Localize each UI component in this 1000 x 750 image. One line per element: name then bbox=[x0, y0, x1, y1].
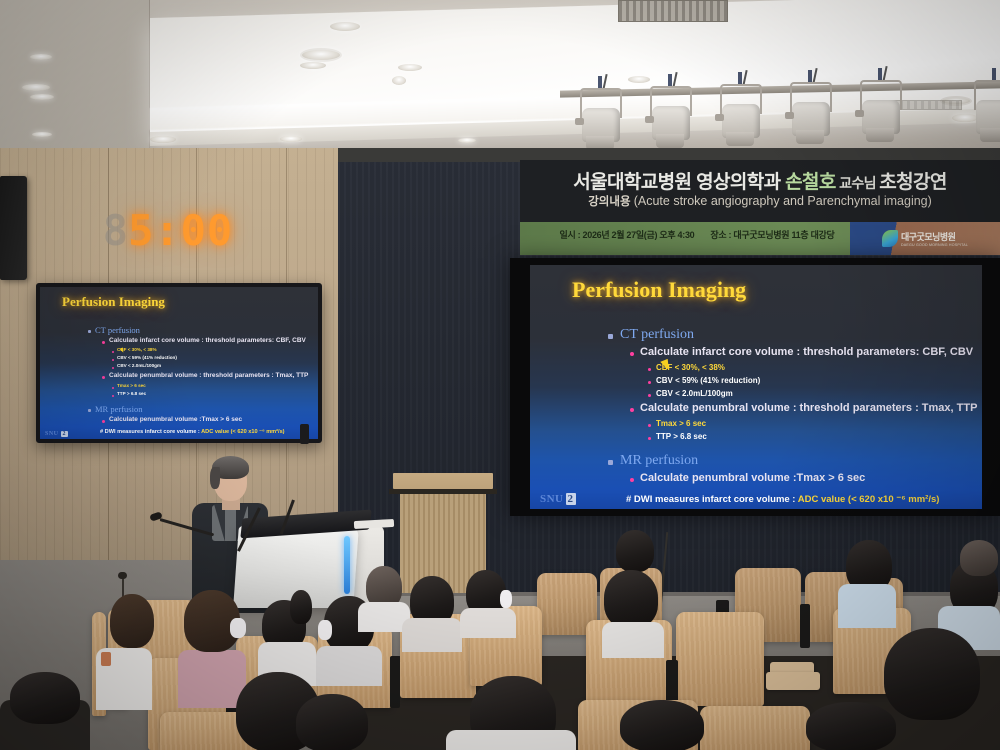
audience-head bbox=[960, 540, 998, 576]
banner-honorific: 교수님 bbox=[836, 175, 879, 191]
downlight-icon bbox=[280, 136, 302, 142]
lecture-hall-photo: 서울대학교병원 영상의학과 손철호 교수님 초청강연 강의내용 (Acute s… bbox=[0, 0, 1000, 750]
audience-torso bbox=[178, 650, 246, 708]
downlight-icon bbox=[32, 132, 52, 137]
slide-title: Perfusion Imaging bbox=[572, 277, 746, 303]
projection-screen: Perfusion Imaging CT perfusion Calculate… bbox=[530, 265, 982, 509]
downlight-icon bbox=[398, 64, 422, 71]
slide-footnote-highlight: ADC value (< 620 x10 ⁻⁶ mm²/s) bbox=[201, 429, 284, 435]
slide-content-small: Perfusion Imaging CT perfusion Calculate… bbox=[40, 287, 318, 439]
audience-head bbox=[10, 672, 80, 724]
banner-title: 서울대학교병원 영상의학과 손철호 교수님 초청강연 bbox=[534, 167, 986, 194]
banner-info-line: 일시 : 2026년 2월 27일(금) 오후 4:30장소 : 대구굿모닝병원… bbox=[530, 228, 880, 241]
downlight-icon bbox=[628, 76, 650, 83]
banner-title-prefix: 서울대학교병원 영상의학과 bbox=[573, 172, 785, 193]
hospital-logo-subtext: DAEGU GOOD MORNING HOSPITAL bbox=[901, 243, 968, 247]
slide-bullet-l3: CBV < 2.0mL/100gm bbox=[656, 389, 733, 398]
slide-title: Perfusion Imaging bbox=[62, 294, 165, 310]
face-mask bbox=[230, 618, 246, 638]
face-mask bbox=[318, 620, 332, 640]
audience-head bbox=[806, 702, 896, 750]
slide-footnote-prefix: # DWI measures infarct core volume : bbox=[100, 429, 201, 435]
clock-ghost-digit: 8 bbox=[103, 206, 128, 255]
slide-bullet-l2: Calculate penumbral volume : bbox=[109, 416, 201, 423]
bullet-marker bbox=[648, 381, 651, 384]
bullet-marker bbox=[88, 409, 91, 412]
seat-gap bbox=[390, 656, 400, 708]
id-badge bbox=[101, 652, 111, 666]
audience-torso bbox=[316, 646, 382, 686]
event-banner: 서울대학교병원 영상의학과 손철호 교수님 초청강연 강의내용 (Acute s… bbox=[520, 160, 1000, 255]
slide-bullet-l3: CBV < 59% (41% reduction) bbox=[117, 355, 177, 360]
slide-footer-logo-text: SNU bbox=[45, 431, 59, 437]
slide-footnote-prefix: # DWI measures infarct core volume : bbox=[626, 494, 798, 505]
slide-bullet-l1: CT perfusion bbox=[620, 327, 694, 343]
bullet-marker bbox=[112, 351, 114, 353]
audience-head bbox=[110, 594, 154, 648]
auditorium-seat bbox=[676, 612, 764, 706]
downlight-icon bbox=[330, 22, 360, 31]
hospital-logo: 대구굿모닝병원 DAEGU GOOD MORNING HOSPITAL bbox=[882, 226, 994, 250]
bullet-marker bbox=[102, 341, 105, 344]
bullet-marker bbox=[102, 376, 105, 379]
bullet-marker bbox=[608, 460, 613, 465]
downlight-icon bbox=[22, 84, 50, 91]
seat-gap bbox=[800, 604, 810, 648]
wall-loudspeaker bbox=[0, 176, 27, 280]
slide-footer-badge: 2 bbox=[566, 493, 576, 505]
downlight-icon bbox=[150, 136, 176, 143]
downlight-icon bbox=[30, 54, 52, 60]
banner-speaker-name: 손철호 bbox=[785, 172, 836, 193]
auditorium-seat bbox=[700, 706, 810, 750]
slide-footer-badge: 2 bbox=[61, 431, 69, 437]
slide-bullet-l3: CBV < 59% (41% reduction) bbox=[656, 376, 760, 385]
ceiling bbox=[0, 0, 1000, 152]
banner-place: 장소 : 대구굿모닝병원 11층 대강당 bbox=[710, 230, 834, 240]
audience-torso bbox=[838, 584, 896, 628]
slide-footer-logo: SNU2 bbox=[45, 431, 68, 437]
audience-head bbox=[296, 694, 368, 750]
downlight-icon bbox=[300, 62, 326, 69]
bullet-marker bbox=[648, 368, 651, 371]
slide-bullet-highlight: Tmax > 6 sec bbox=[796, 472, 865, 484]
audience-torso bbox=[602, 622, 664, 658]
bullet-marker bbox=[112, 367, 114, 369]
bullet-marker bbox=[112, 387, 114, 389]
bullet-marker bbox=[630, 478, 634, 482]
bullet-marker bbox=[648, 394, 651, 397]
podium-led-strip bbox=[344, 536, 350, 594]
projection-screen-frame: Perfusion Imaging CT perfusion Calculate… bbox=[510, 258, 1000, 516]
bullet-marker bbox=[648, 424, 651, 427]
banner-subtitle: 강의내용 (Acute stroke angiography and Paren… bbox=[534, 193, 986, 209]
slide-bullet-l3: CBV < 2.0mL/100gm bbox=[117, 363, 161, 368]
slide-bullet-l2: Calculate penumbral volume : threshold p… bbox=[640, 402, 977, 414]
audience-head bbox=[290, 590, 312, 624]
slide-bullet-l2: Calculate infarct core volume : threshol… bbox=[640, 346, 973, 358]
slide-bullet-l2: Calculate penumbral volume : bbox=[640, 472, 796, 484]
banner-title-suffix: 초청강연 bbox=[879, 172, 947, 193]
slide-bullet-l1: MR perfusion bbox=[95, 404, 142, 414]
audience-head bbox=[620, 700, 704, 750]
bullet-marker bbox=[112, 395, 114, 397]
downlight-icon bbox=[300, 48, 342, 62]
clock-time: 5:00 bbox=[128, 206, 233, 255]
slide-footer-logo-text: SNU bbox=[540, 493, 564, 505]
tv-screen: Perfusion Imaging CT perfusion Calculate… bbox=[40, 287, 318, 439]
bullet-marker bbox=[630, 408, 634, 412]
wall-tv-monitor: Perfusion Imaging CT perfusion Calculate… bbox=[36, 283, 322, 443]
slide-bullet-l2: Calculate infarct core volume : threshol… bbox=[109, 337, 306, 344]
bullet-marker bbox=[88, 330, 91, 333]
audience-head bbox=[884, 628, 980, 720]
audience-head bbox=[604, 570, 658, 628]
banner-subtitle-kr: 강의내용 bbox=[588, 196, 634, 208]
ceiling-air-vent bbox=[618, 0, 728, 22]
audience-head bbox=[616, 530, 654, 572]
slide-bullet-l2: Calculate penumbral volume : threshold p… bbox=[109, 372, 308, 379]
downlight-icon bbox=[458, 138, 476, 143]
seat-armrest bbox=[766, 672, 820, 690]
slide-bullet-l3: Tmax > 6 sec bbox=[656, 419, 706, 428]
slide-content-large: Perfusion Imaging CT perfusion Calculate… bbox=[530, 265, 982, 509]
bullet-marker bbox=[648, 437, 651, 440]
leaf-icon bbox=[882, 230, 898, 247]
slide-bullet-l3: TTP > 6.8 sec bbox=[656, 432, 707, 441]
audience-torso bbox=[402, 618, 462, 652]
hospital-logo-text: 대구굿모닝병원 bbox=[901, 230, 968, 243]
slide-bullet-l1: CT perfusion bbox=[95, 325, 140, 335]
presenter-hair-side bbox=[210, 467, 220, 489]
face-mask bbox=[500, 590, 512, 608]
ceiling-acoustic-tile bbox=[0, 0, 150, 148]
slide-bullet-l3: TTP > 6.8 sec bbox=[117, 391, 146, 396]
digital-clock: 85:00 bbox=[112, 206, 224, 254]
bullet-marker bbox=[630, 352, 634, 356]
banner-subtitle-en: (Acute stroke angiography and Parenchyma… bbox=[634, 194, 932, 208]
floor-microphone-head bbox=[118, 572, 127, 579]
tv-mount bbox=[300, 424, 309, 444]
podium bbox=[236, 508, 386, 608]
downlight-icon bbox=[952, 114, 978, 122]
lectern-top bbox=[393, 473, 493, 489]
downlight-icon bbox=[30, 94, 54, 100]
ceiling-air-vent bbox=[892, 100, 962, 110]
bullet-marker bbox=[102, 420, 105, 423]
downlight-icon bbox=[392, 76, 406, 85]
bullet-marker bbox=[112, 359, 114, 361]
bullet-marker bbox=[608, 334, 613, 339]
audience-torso bbox=[460, 608, 516, 638]
slide-footnote-highlight: ADC value (< 620 x10 ⁻⁶ mm²/s) bbox=[798, 494, 940, 505]
slide-bullet-highlight: Tmax > 6 sec bbox=[201, 416, 242, 423]
audience-torso bbox=[446, 730, 576, 750]
slide-footer-logo: SNU2 bbox=[540, 493, 576, 505]
slide-bullet-l1: MR perfusion bbox=[620, 453, 698, 469]
banner-date: 일시 : 2026년 2월 27일(금) 오후 4:30 bbox=[559, 230, 694, 240]
slide-bullet-l3: Tmax > 6 sec bbox=[117, 383, 146, 388]
